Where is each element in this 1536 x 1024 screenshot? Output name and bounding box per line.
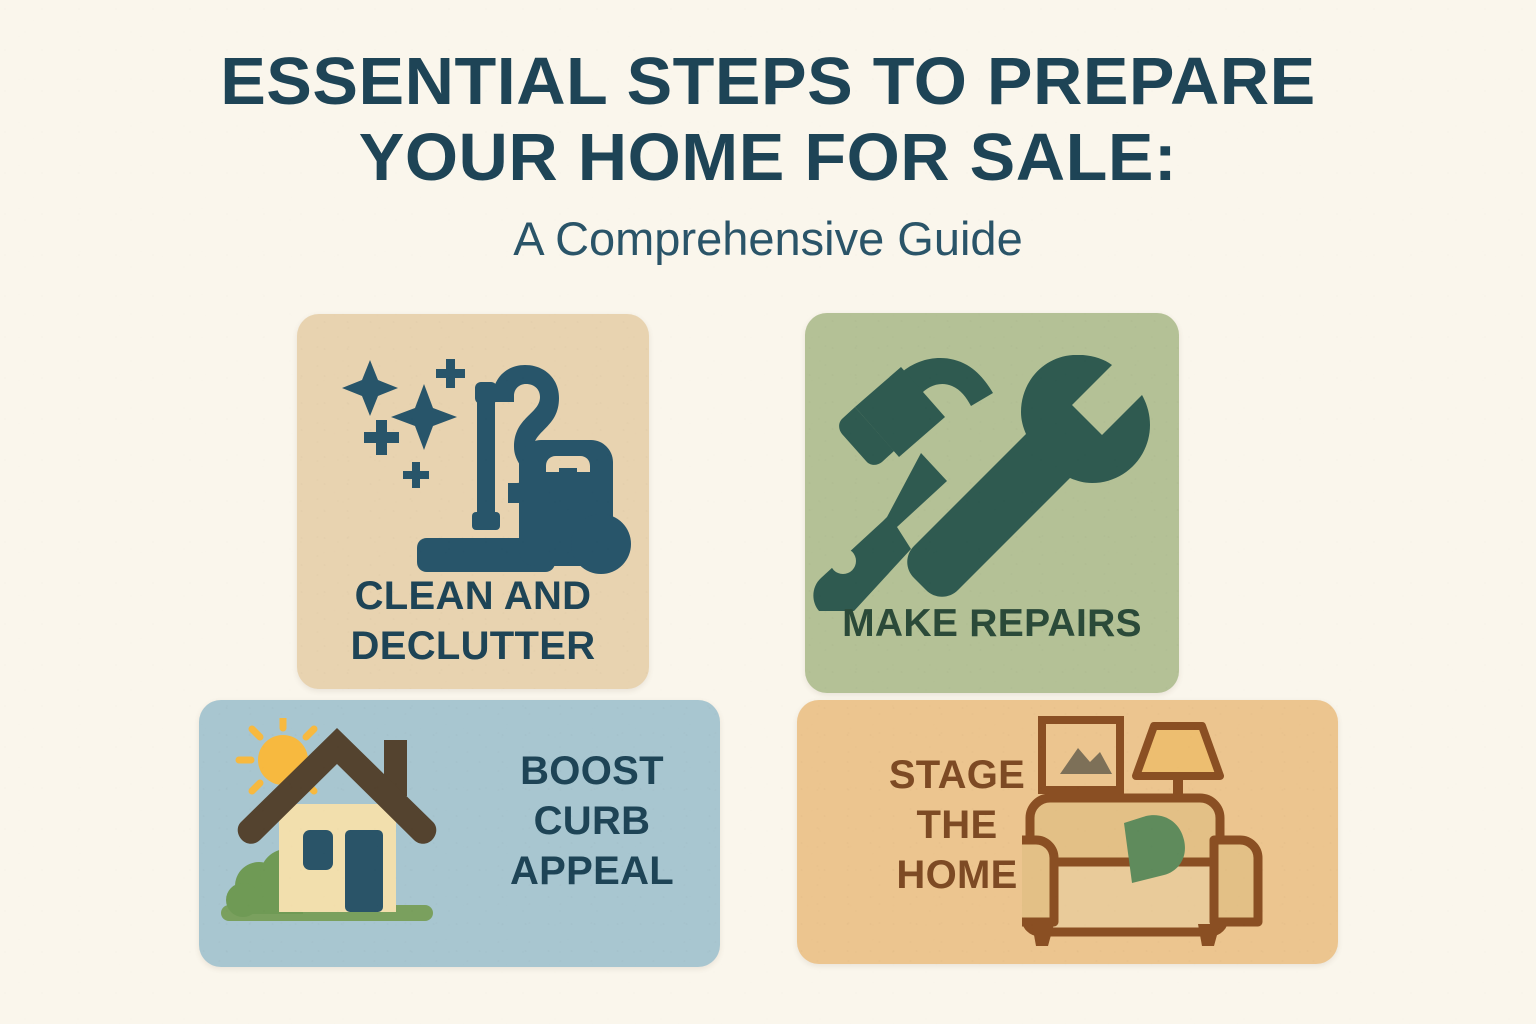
- vacuum-wheel: [571, 514, 631, 574]
- hammer-handle-hole: [830, 548, 856, 574]
- sparkle-large: [342, 360, 398, 416]
- hammer-neck: [887, 453, 947, 527]
- hammer-head: [855, 367, 945, 457]
- card-boost-curb-appeal[interactable]: Boost Curb Appeal: [199, 700, 720, 967]
- sun-icon: [239, 718, 327, 804]
- card-stage-the-home[interactable]: Stage the Home: [797, 700, 1338, 964]
- vacuum-cleaner-icon: [297, 322, 649, 602]
- hammer-handle: [813, 517, 911, 611]
- vacuum-collar: [472, 512, 500, 530]
- sparkle-medium: [391, 384, 457, 450]
- house-body: [279, 804, 396, 912]
- vacuum-canister: [519, 440, 613, 566]
- hammer-claw: [901, 358, 993, 406]
- card-label-stage: Stage the Home: [857, 750, 1057, 900]
- sofa-body: [1022, 798, 1258, 946]
- sparkle-plus-2: [364, 420, 399, 455]
- card-label-repair: Make Repairs: [805, 601, 1179, 647]
- title-line-2: Your Home for Sale:: [0, 120, 1536, 196]
- house-roof: [238, 728, 437, 844]
- sofa-leg-right: [1198, 924, 1220, 946]
- vacuum-grip: [475, 382, 497, 404]
- vacuum-canister-handle: [546, 456, 590, 472]
- chimney: [384, 740, 407, 796]
- title-line-1: Essential Steps to Prepare: [0, 44, 1536, 120]
- vacuum-hose: [493, 365, 559, 503]
- hammer-face: [839, 407, 894, 465]
- floor-lamp-icon: [1136, 726, 1220, 930]
- sparkle-plus-3: [403, 462, 429, 488]
- wrench: [907, 355, 1150, 597]
- grass-strip: [221, 905, 433, 921]
- bush-icon: [226, 849, 314, 917]
- card-make-repairs[interactable]: Make Repairs: [805, 313, 1179, 693]
- sofa-icon: [1022, 712, 1312, 962]
- page-subtitle: A Comprehensive Guide: [0, 212, 1536, 266]
- card-clean-and-declutter[interactable]: Clean and Declutter: [297, 314, 649, 689]
- vacuum-wand: [477, 400, 495, 520]
- hammer-wrench-icon: [805, 331, 1179, 611]
- card-label-curb: Boost Curb Appeal: [494, 746, 690, 896]
- card-label-clean: Clean and Declutter: [297, 571, 649, 671]
- sofa-leg-left: [1032, 924, 1054, 946]
- house-window: [303, 830, 333, 870]
- page-title: Essential Steps to Prepare Your Home for…: [0, 44, 1536, 266]
- sparkle-plus-1: [436, 359, 465, 388]
- house-door: [345, 830, 383, 912]
- vacuum-nozzle: [417, 538, 555, 572]
- sofa-cushion: [1124, 815, 1185, 883]
